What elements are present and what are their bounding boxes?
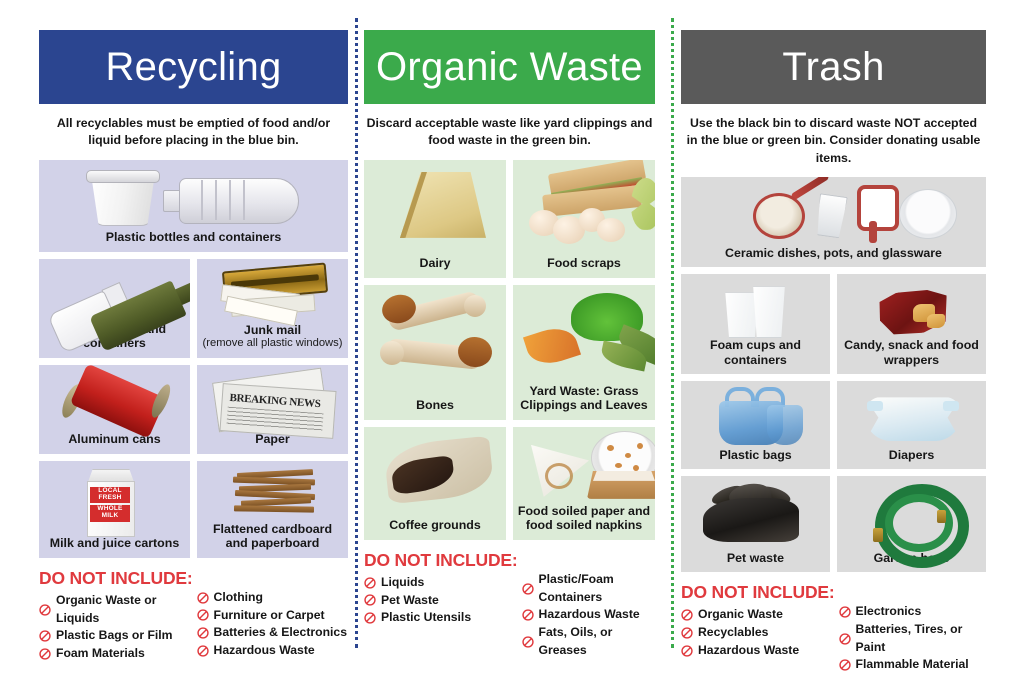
tile-ceramic-dishes[interactable]: Ceramic dishes, pots, and glassware xyxy=(681,177,986,267)
dni-item-label: Plastic Bags or Film xyxy=(56,627,173,645)
tile-label: Plastic bottles and containers xyxy=(102,230,286,245)
dni-item-label: Hazardous Waste xyxy=(698,642,799,660)
prohibition-icon xyxy=(364,594,376,606)
dni-item-label: Hazardous Waste xyxy=(539,606,640,624)
newspaper-art: BREAKING NEWS xyxy=(197,365,348,432)
prohibition-icon xyxy=(364,612,376,624)
dni-item: Fats, Oils, or Greases xyxy=(522,624,655,659)
garden-hose-inner-coil-icon xyxy=(885,494,953,552)
prohibition-icon xyxy=(681,645,693,657)
prohibition-icon xyxy=(522,609,534,621)
foam-cup-icon xyxy=(751,286,787,338)
red-scoop-icon xyxy=(857,185,899,231)
bone-knob-icon xyxy=(464,295,486,317)
dni-item-label: Organic Waste or Liquids xyxy=(56,592,193,627)
scoop-handle-icon xyxy=(869,221,877,243)
tile-row: Foam cups and containers Candy, snack an… xyxy=(681,274,986,374)
dni-item: Hazardous Waste xyxy=(681,642,835,660)
tile-label: Flattened cardboard and paperboard xyxy=(197,522,348,551)
prohibition-icon xyxy=(522,636,534,648)
tile-row: Coffee grounds Food xyxy=(364,427,655,540)
tile-yard-waste[interactable]: Yard Waste: Grass Clippings and Leaves xyxy=(513,285,655,420)
prohibition-icon xyxy=(197,609,209,621)
tile-row: Bones Yard Waste: Grass Clippings and Le… xyxy=(364,285,655,420)
tile-food-soiled-paper[interactable]: Food soiled paper and food soiled napkin… xyxy=(513,427,655,540)
prohibition-icon xyxy=(681,627,693,639)
dni-title: DO NOT INCLUDE: xyxy=(681,582,835,603)
tile-candy-wrappers[interactable]: Candy, snack and food wrappers xyxy=(837,274,986,374)
prohibition-icon xyxy=(839,659,851,671)
diaper-tape-icon xyxy=(943,401,959,411)
aluminum-can-icon xyxy=(70,365,166,439)
coffee-grounds-art xyxy=(364,427,506,518)
dni-item: Organic Waste or Liquids xyxy=(39,592,193,627)
dni-item: Batteries, Tires, or Paint xyxy=(839,621,986,656)
trash-intro-before: Use the black bin to discard waste xyxy=(690,116,894,130)
tile-row: Plastic bags Diapers xyxy=(681,381,986,469)
tile-row: LOCAL FRESH WHOLE MILK Milk and juice ca… xyxy=(39,461,348,558)
crumb-icon xyxy=(625,453,631,458)
prohibition-icon xyxy=(522,583,534,595)
dni-column-right: Plastic/Foam Containers Hazardous Waste … xyxy=(522,550,655,659)
carton-label-bottom: WHOLE MILK xyxy=(90,505,130,522)
dni-item: Clothing xyxy=(197,589,348,607)
tile-milk-cartons[interactable]: LOCAL FRESH WHOLE MILK Milk and juice ca… xyxy=(39,461,190,558)
dni-item: Organic Waste xyxy=(681,606,835,624)
dni-item-label: Plastic/Foam Containers xyxy=(539,571,655,606)
trash-bag-icon xyxy=(703,498,799,542)
dni-item: Liquids xyxy=(364,574,518,592)
dni-column-right: Clothing Furniture or Carpet Batteries &… xyxy=(197,568,348,663)
diaper-tape-icon xyxy=(867,401,883,411)
tile-row: Plastic bottles and containers xyxy=(39,160,348,252)
recycling-do-not-include: DO NOT INCLUDE: Organic Waste or Liquids… xyxy=(39,568,348,663)
column-trash: Trash Use the black bin to discard waste… xyxy=(681,30,986,674)
tile-bones[interactable]: Bones xyxy=(364,285,506,420)
tile-label: Food soiled paper and food soiled napkin… xyxy=(513,504,655,533)
dni-item-label: Furniture or Carpet xyxy=(214,607,325,625)
plastic-bottle-icon xyxy=(179,178,299,224)
prohibition-icon xyxy=(839,606,851,618)
chip-icon xyxy=(927,314,945,328)
prohibition-icon xyxy=(364,577,376,589)
hose-nozzle-icon xyxy=(937,510,946,523)
organic-tiles: Dairy Food scraps xyxy=(364,160,655,540)
glass-cup-icon xyxy=(814,194,848,239)
aluminum-can-art xyxy=(39,365,190,432)
plastic-bags-art xyxy=(681,381,830,447)
prohibition-icon xyxy=(197,645,209,657)
tile-label: Bones xyxy=(412,398,458,413)
tile-row: Ceramic dishes, pots, and glassware xyxy=(681,177,986,267)
foam-cups-art xyxy=(681,274,830,338)
tile-label: Diapers xyxy=(885,448,938,463)
paper-tray-inner-icon xyxy=(593,471,655,481)
tile-row: Dairy Food scraps xyxy=(364,160,655,278)
tile-paper[interactable]: BREAKING NEWS Paper xyxy=(197,365,348,454)
prohibition-icon xyxy=(39,630,51,642)
dni-column-right: Electronics Batteries, Tires, or Paint F… xyxy=(839,582,986,674)
prohibition-icon xyxy=(839,633,851,645)
tile-label: Dairy xyxy=(416,256,455,271)
garden-hose-art xyxy=(837,476,986,550)
glass-bottle-art xyxy=(39,259,190,322)
dni-spacer xyxy=(197,568,348,589)
dni-column-left: DO NOT INCLUDE: Organic Waste or Liquids… xyxy=(39,568,193,663)
prohibition-icon xyxy=(39,604,51,616)
tile-row: Pet waste Garden hose xyxy=(681,476,986,572)
dni-item-label: Electronics xyxy=(856,603,922,621)
cardboard-layer-icon xyxy=(234,505,314,512)
tile-sublabel: (remove all plastic windows) xyxy=(203,337,343,350)
tile-row: Aluminum cans BREAKING NEWS Paper xyxy=(39,365,348,454)
dni-item: Hazardous Waste xyxy=(197,642,348,660)
dni-item-label: Batteries & Electronics xyxy=(214,624,347,642)
tile-foam-cups[interactable]: Foam cups and containers xyxy=(681,274,830,374)
column-recycling: Recycling All recyclables must be emptie… xyxy=(39,30,348,663)
coffee-stain-icon xyxy=(545,463,573,489)
tile-label: Milk and juice cartons xyxy=(46,536,183,551)
carton-text-milk: MILK xyxy=(102,512,119,519)
dni-item-label: Liquids xyxy=(381,574,424,592)
dni-item-label: Hazardous Waste xyxy=(214,642,315,660)
plastic-bag-icon xyxy=(767,405,803,445)
bottle-rib-icon xyxy=(243,180,245,220)
dni-item: Foam Materials xyxy=(39,645,193,663)
yard-waste-art xyxy=(513,285,655,384)
prohibition-icon xyxy=(39,648,51,660)
waste-sorting-infographic: Recycling All recyclables must be emptie… xyxy=(0,0,1024,663)
ceramic-dish-icon xyxy=(899,189,957,239)
ceramic-pot-icon xyxy=(753,193,805,239)
tile-plastic-bags[interactable]: Plastic bags xyxy=(681,381,830,469)
carton-text-fresh: FRESH xyxy=(98,494,121,501)
dni-item-label: Recyclables xyxy=(698,624,768,642)
organic-intro-text: Discard acceptable waste like yard clipp… xyxy=(364,104,655,160)
dni-item-label: Flammable Material xyxy=(856,656,969,674)
dni-item: Furniture or Carpet xyxy=(197,607,348,625)
bottle-rib-icon xyxy=(201,180,203,220)
tile-label: Pet waste xyxy=(723,551,788,566)
dni-item: Recyclables xyxy=(681,624,835,642)
tile-label: Plastic bags xyxy=(715,448,795,463)
dni-item: Flammable Material xyxy=(839,656,986,674)
cardboard-stack-art xyxy=(197,461,348,522)
crumb-icon xyxy=(637,443,643,449)
dni-item: Plastic Utensils xyxy=(364,609,518,627)
hose-nozzle-icon xyxy=(873,528,883,542)
food-soiled-paper-art xyxy=(513,427,655,504)
crumb-icon xyxy=(607,445,614,451)
diapers-art xyxy=(837,381,986,447)
tile-pet-waste[interactable]: Pet waste xyxy=(681,476,830,572)
dni-title: DO NOT INCLUDE: xyxy=(364,550,518,571)
dni-item: Electronics xyxy=(839,603,986,621)
tile-flattened-cardboard[interactable]: Flattened cardboard and paperboard xyxy=(197,461,348,558)
dni-item-label: Organic Waste xyxy=(698,606,783,624)
trash-intro-emphasis: NOT xyxy=(894,116,920,130)
tile-garden-hose[interactable]: Garden hose xyxy=(837,476,986,572)
dni-item-label: Batteries, Tires, or Paint xyxy=(856,621,986,656)
tile-diapers[interactable]: Diapers xyxy=(837,381,986,469)
recycling-tiles: Plastic bottles and containers Glass bot… xyxy=(39,160,348,558)
tile-label: Ceramic dishes, pots, and glassware xyxy=(721,246,946,261)
crumb-icon xyxy=(633,465,639,471)
plastic-tub-lid-icon xyxy=(86,170,160,183)
prohibition-icon xyxy=(197,627,209,639)
food-scraps-art xyxy=(513,160,655,256)
recycling-header: Recycling xyxy=(39,30,348,104)
tile-label: Candy, snack and food wrappers xyxy=(837,338,986,367)
recycling-intro-text: All recyclables must be emptied of food … xyxy=(39,104,348,160)
bottle-rib-icon xyxy=(215,180,217,220)
carton-label-top: LOCAL FRESH xyxy=(90,487,130,503)
ceramic-dishes-art xyxy=(681,177,986,245)
trash-header: Trash xyxy=(681,30,986,104)
dni-item-label: Clothing xyxy=(214,589,263,607)
tile-coffee-grounds[interactable]: Coffee grounds xyxy=(364,427,506,540)
dni-title: DO NOT INCLUDE: xyxy=(39,568,193,589)
bones-art xyxy=(364,285,506,398)
trash-do-not-include: DO NOT INCLUDE: Organic Waste Recyclable… xyxy=(681,582,986,674)
dni-item: Hazardous Waste xyxy=(522,606,655,624)
tile-label: Food scraps xyxy=(543,256,625,271)
bone-knob-icon xyxy=(380,341,404,365)
tile-food-scraps[interactable]: Food scraps xyxy=(513,160,655,278)
dni-spacer xyxy=(522,550,655,571)
tile-label: Yard Waste: Grass Clippings and Leaves xyxy=(513,384,655,413)
prohibition-icon xyxy=(197,592,209,604)
tile-glass-bottles[interactable]: Glass bottles and containers xyxy=(39,259,190,358)
tile-plastic-bottles[interactable]: Plastic bottles and containers xyxy=(39,160,348,252)
dni-item: Batteries & Electronics xyxy=(197,624,348,642)
dni-item: Plastic Bags or Film xyxy=(39,627,193,645)
column-divider-recycling-organic xyxy=(355,18,358,648)
pet-waste-art xyxy=(681,476,830,550)
dni-item: Pet Waste xyxy=(364,592,518,610)
plastic-bottle-art xyxy=(39,160,348,230)
tile-label: Coffee grounds xyxy=(385,518,485,533)
dni-item-label: Fats, Oils, or Greases xyxy=(539,624,655,659)
bottle-rib-icon xyxy=(229,180,231,220)
prohibition-icon xyxy=(681,609,693,621)
tile-aluminum-cans[interactable]: Aluminum cans xyxy=(39,365,190,454)
tile-label: Foam cups and containers xyxy=(681,338,830,367)
tile-junk-mail[interactable]: Junk mail (remove all plastic windows) xyxy=(197,259,348,358)
junk-mail-art xyxy=(197,259,348,323)
column-divider-organic-trash xyxy=(671,18,674,648)
dni-item-label: Foam Materials xyxy=(56,645,145,663)
eggshell-icon xyxy=(597,218,625,242)
candy-wrappers-art xyxy=(837,274,986,338)
dni-column-left: DO NOT INCLUDE: Liquids Pet Waste Plasti… xyxy=(364,550,518,659)
trash-tiles: Ceramic dishes, pots, and glassware Foam… xyxy=(681,177,986,572)
dairy-art xyxy=(364,160,506,256)
tile-dairy[interactable]: Dairy xyxy=(364,160,506,278)
dni-item: Plastic/Foam Containers xyxy=(522,571,655,606)
dni-spacer xyxy=(839,582,986,603)
tile-row: Glass bottles and containers Junk mail (… xyxy=(39,259,348,358)
organic-header: Organic Waste xyxy=(364,30,655,104)
trash-intro-text: Use the black bin to discard waste NOT a… xyxy=(681,104,986,177)
dni-item-label: Pet Waste xyxy=(381,592,439,610)
dni-item-label: Plastic Utensils xyxy=(381,609,471,627)
column-organic-waste: Organic Waste Discard acceptable waste l… xyxy=(364,30,655,659)
dni-column-left: DO NOT INCLUDE: Organic Waste Recyclable… xyxy=(681,582,835,674)
tile-label: Junk mail xyxy=(240,323,305,338)
crumb-icon xyxy=(615,463,622,468)
organic-do-not-include: DO NOT INCLUDE: Liquids Pet Waste Plasti… xyxy=(364,550,655,659)
milk-carton-art: LOCAL FRESH WHOLE MILK xyxy=(39,461,190,536)
